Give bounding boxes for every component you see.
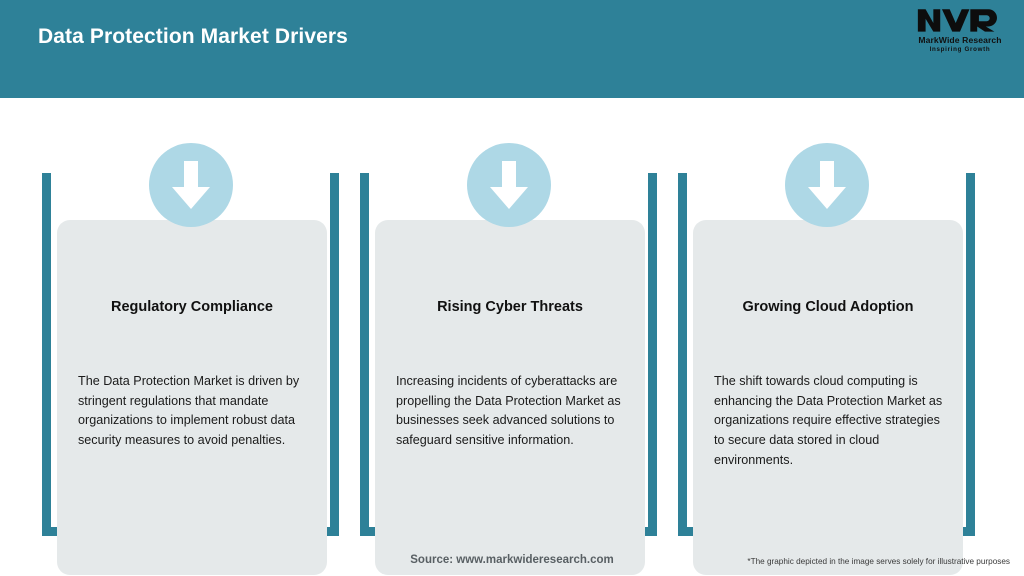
driver-card-1[interactable]: Regulatory Compliance The Data Protectio… [42,143,339,536]
down-arrow-glyph [805,159,849,211]
down-arrow-icon [149,143,233,227]
card-body-text: The Data Protection Market is driven by … [78,372,310,451]
card-panel: Rising Cyber Threats Increasing incident… [375,220,645,575]
card-body-text: The shift towards cloud computing is enh… [714,372,946,470]
card-title: Rising Cyber Threats [387,298,633,316]
page-title: Data Protection Market Drivers [38,25,348,49]
logo-tagline: Inspiring Growth [930,46,991,53]
logo-company-name: MarkWide Research [918,35,1001,45]
card-title: Growing Cloud Adoption [705,298,951,316]
card-title: Regulatory Compliance [69,298,315,316]
driver-card-2[interactable]: Rising Cyber Threats Increasing incident… [360,143,657,536]
down-arrow-glyph [487,159,531,211]
card-panel: Regulatory Compliance The Data Protectio… [57,220,327,575]
disclaimer-note: *The graphic depicted in the image serve… [747,557,1010,566]
card-panel: Growing Cloud Adoption The shift towards… [693,220,963,575]
card-body-text: Increasing incidents of cyberattacks are… [396,372,628,451]
brand-logo: MarkWide Research Inspiring Growth [908,6,1012,60]
down-arrow-icon [785,143,869,227]
down-arrow-icon [467,143,551,227]
page-header: Data Protection Market Drivers MarkWide … [0,0,1024,98]
mwr-logo-icon [917,6,1003,34]
driver-card-3[interactable]: Growing Cloud Adoption The shift towards… [678,143,975,536]
down-arrow-glyph [169,159,213,211]
driver-cards-container: Regulatory Compliance The Data Protectio… [0,98,1024,540]
